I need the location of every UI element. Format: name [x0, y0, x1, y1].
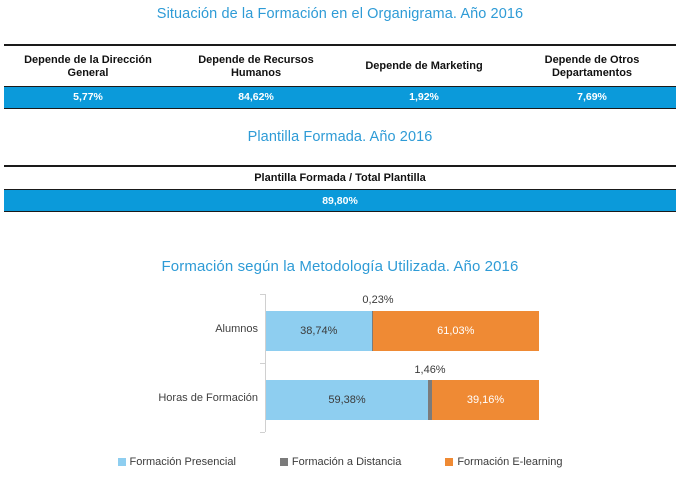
report-page: Situación de la Formación en el Organigr…	[0, 0, 680, 499]
chart-legend: Formación Presencial Formación a Distanc…	[0, 456, 680, 468]
column-header: Depende de la Dirección General	[4, 46, 172, 86]
legend-item-presencial[interactable]: Formación Presencial	[118, 456, 236, 468]
bar-value-label: 38,74%	[300, 325, 337, 337]
column-header: Depende de Otros Departamentos	[508, 46, 676, 86]
table-cell-value: 7,69%	[508, 87, 676, 108]
organigrama-title: Situación de la Formación en el Organigr…	[0, 6, 680, 22]
distancia-callout-horas: 1,46%	[414, 364, 445, 376]
plantilla-title: Plantilla Formada. Año 2016	[0, 129, 680, 145]
axis-tick	[260, 432, 265, 433]
table-cell-value: 89,80%	[4, 190, 676, 212]
bar-segment-elearning: 39,16%	[432, 380, 539, 420]
metodologia-title: Formación según la Metodología Utilizada…	[0, 258, 680, 275]
column-header: Plantilla Formada / Total Plantilla	[4, 167, 676, 189]
legend-swatch-icon	[118, 458, 126, 466]
legend-item-elearning[interactable]: Formación E-learning	[445, 456, 562, 468]
legend-swatch-icon	[280, 458, 288, 466]
legend-label: Formación E-learning	[457, 456, 562, 468]
bar-value-label: 59,38%	[328, 394, 365, 406]
table-cell-value: 5,77%	[4, 87, 172, 108]
legend-label: Formación a Distancia	[292, 456, 401, 468]
table-row: 89,80%	[4, 190, 676, 212]
legend-item-distancia[interactable]: Formación a Distancia	[280, 456, 401, 468]
table-cell-value: 84,62%	[172, 87, 340, 108]
table-header-row: Depende de la Dirección General Depende …	[4, 46, 676, 87]
organigrama-table: Depende de la Dirección General Depende …	[4, 44, 676, 109]
table-cell-value: 1,92%	[340, 87, 508, 108]
bar-value-label: 61,03%	[437, 325, 474, 337]
axis-tick	[260, 294, 265, 295]
bar-segment-presencial: 59,38%	[266, 380, 428, 420]
table-header-row: Plantilla Formada / Total Plantilla	[4, 167, 676, 190]
bar-segment-presencial: 38,74%	[266, 311, 372, 351]
bar-alumnos: 38,74% 61,03%	[266, 311, 539, 351]
legend-swatch-icon	[445, 458, 453, 466]
metodologia-stacked-bar-chart: Alumnos Horas de Formación 0,23% 38,74% …	[0, 288, 680, 488]
column-header: Depende de Recursos Humanos	[172, 46, 340, 86]
table-row: 5,77% 84,62% 1,92% 7,69%	[4, 87, 676, 109]
category-label-alumnos: Alumnos	[0, 323, 258, 335]
bar-value-label: 39,16%	[467, 394, 504, 406]
plantilla-table: Plantilla Formada / Total Plantilla 89,8…	[4, 165, 676, 212]
column-header: Depende de Marketing	[340, 46, 508, 86]
bar-horas-de-formacion: 59,38% 39,16%	[266, 380, 539, 420]
bar-segment-elearning: 61,03%	[373, 311, 539, 351]
distancia-callout-alumnos: 0,23%	[362, 294, 393, 306]
axis-tick	[260, 363, 265, 364]
legend-label: Formación Presencial	[130, 456, 236, 468]
category-label-horas: Horas de Formación	[0, 392, 258, 404]
